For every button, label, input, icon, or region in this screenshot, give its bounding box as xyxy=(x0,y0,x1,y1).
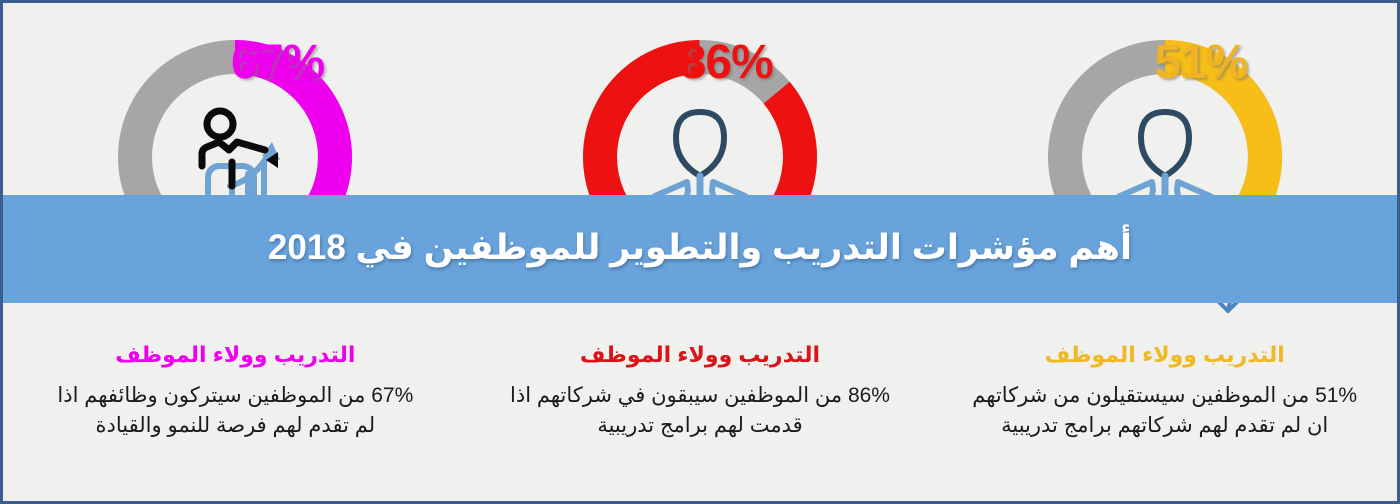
caption-title: التدريب وولاء الموظف xyxy=(946,341,1383,369)
caption-block: التدريب وولاء الموظف 51% من الموظفين سيس… xyxy=(932,341,1397,441)
caption-title: التدريب وولاء الموظف xyxy=(17,341,454,369)
percent-label: 86% xyxy=(680,39,773,87)
caption-block: التدريب وولاء الموظف 86% من الموظفين سيب… xyxy=(468,341,933,441)
caption-block: التدريب وولاء الموظف 67% من الموظفين سيت… xyxy=(3,341,468,441)
percent-label: 51% xyxy=(1154,39,1247,87)
caption-body: 51% من الموظفين سيستقيلون من شركاتهم ان … xyxy=(946,381,1383,442)
infographic-canvas: 67% التدريب وولاء الموظف 67% من الموظفين… xyxy=(0,0,1400,504)
caption-title: التدريب وولاء الموظف xyxy=(482,341,919,369)
title-banner: أهم مؤشرات التدريب والتطوير للموظفين في … xyxy=(3,195,1397,303)
caption-body: 67% من الموظفين سيتركون وظائفهم اذا لم ت… xyxy=(17,381,454,442)
percent-label: 67% xyxy=(231,39,324,87)
caption-body: 86% من الموظفين سيبقون في شركاتهم اذا قد… xyxy=(482,381,919,442)
page-title: أهم مؤشرات التدريب والتطوير للموظفين في … xyxy=(268,228,1132,270)
